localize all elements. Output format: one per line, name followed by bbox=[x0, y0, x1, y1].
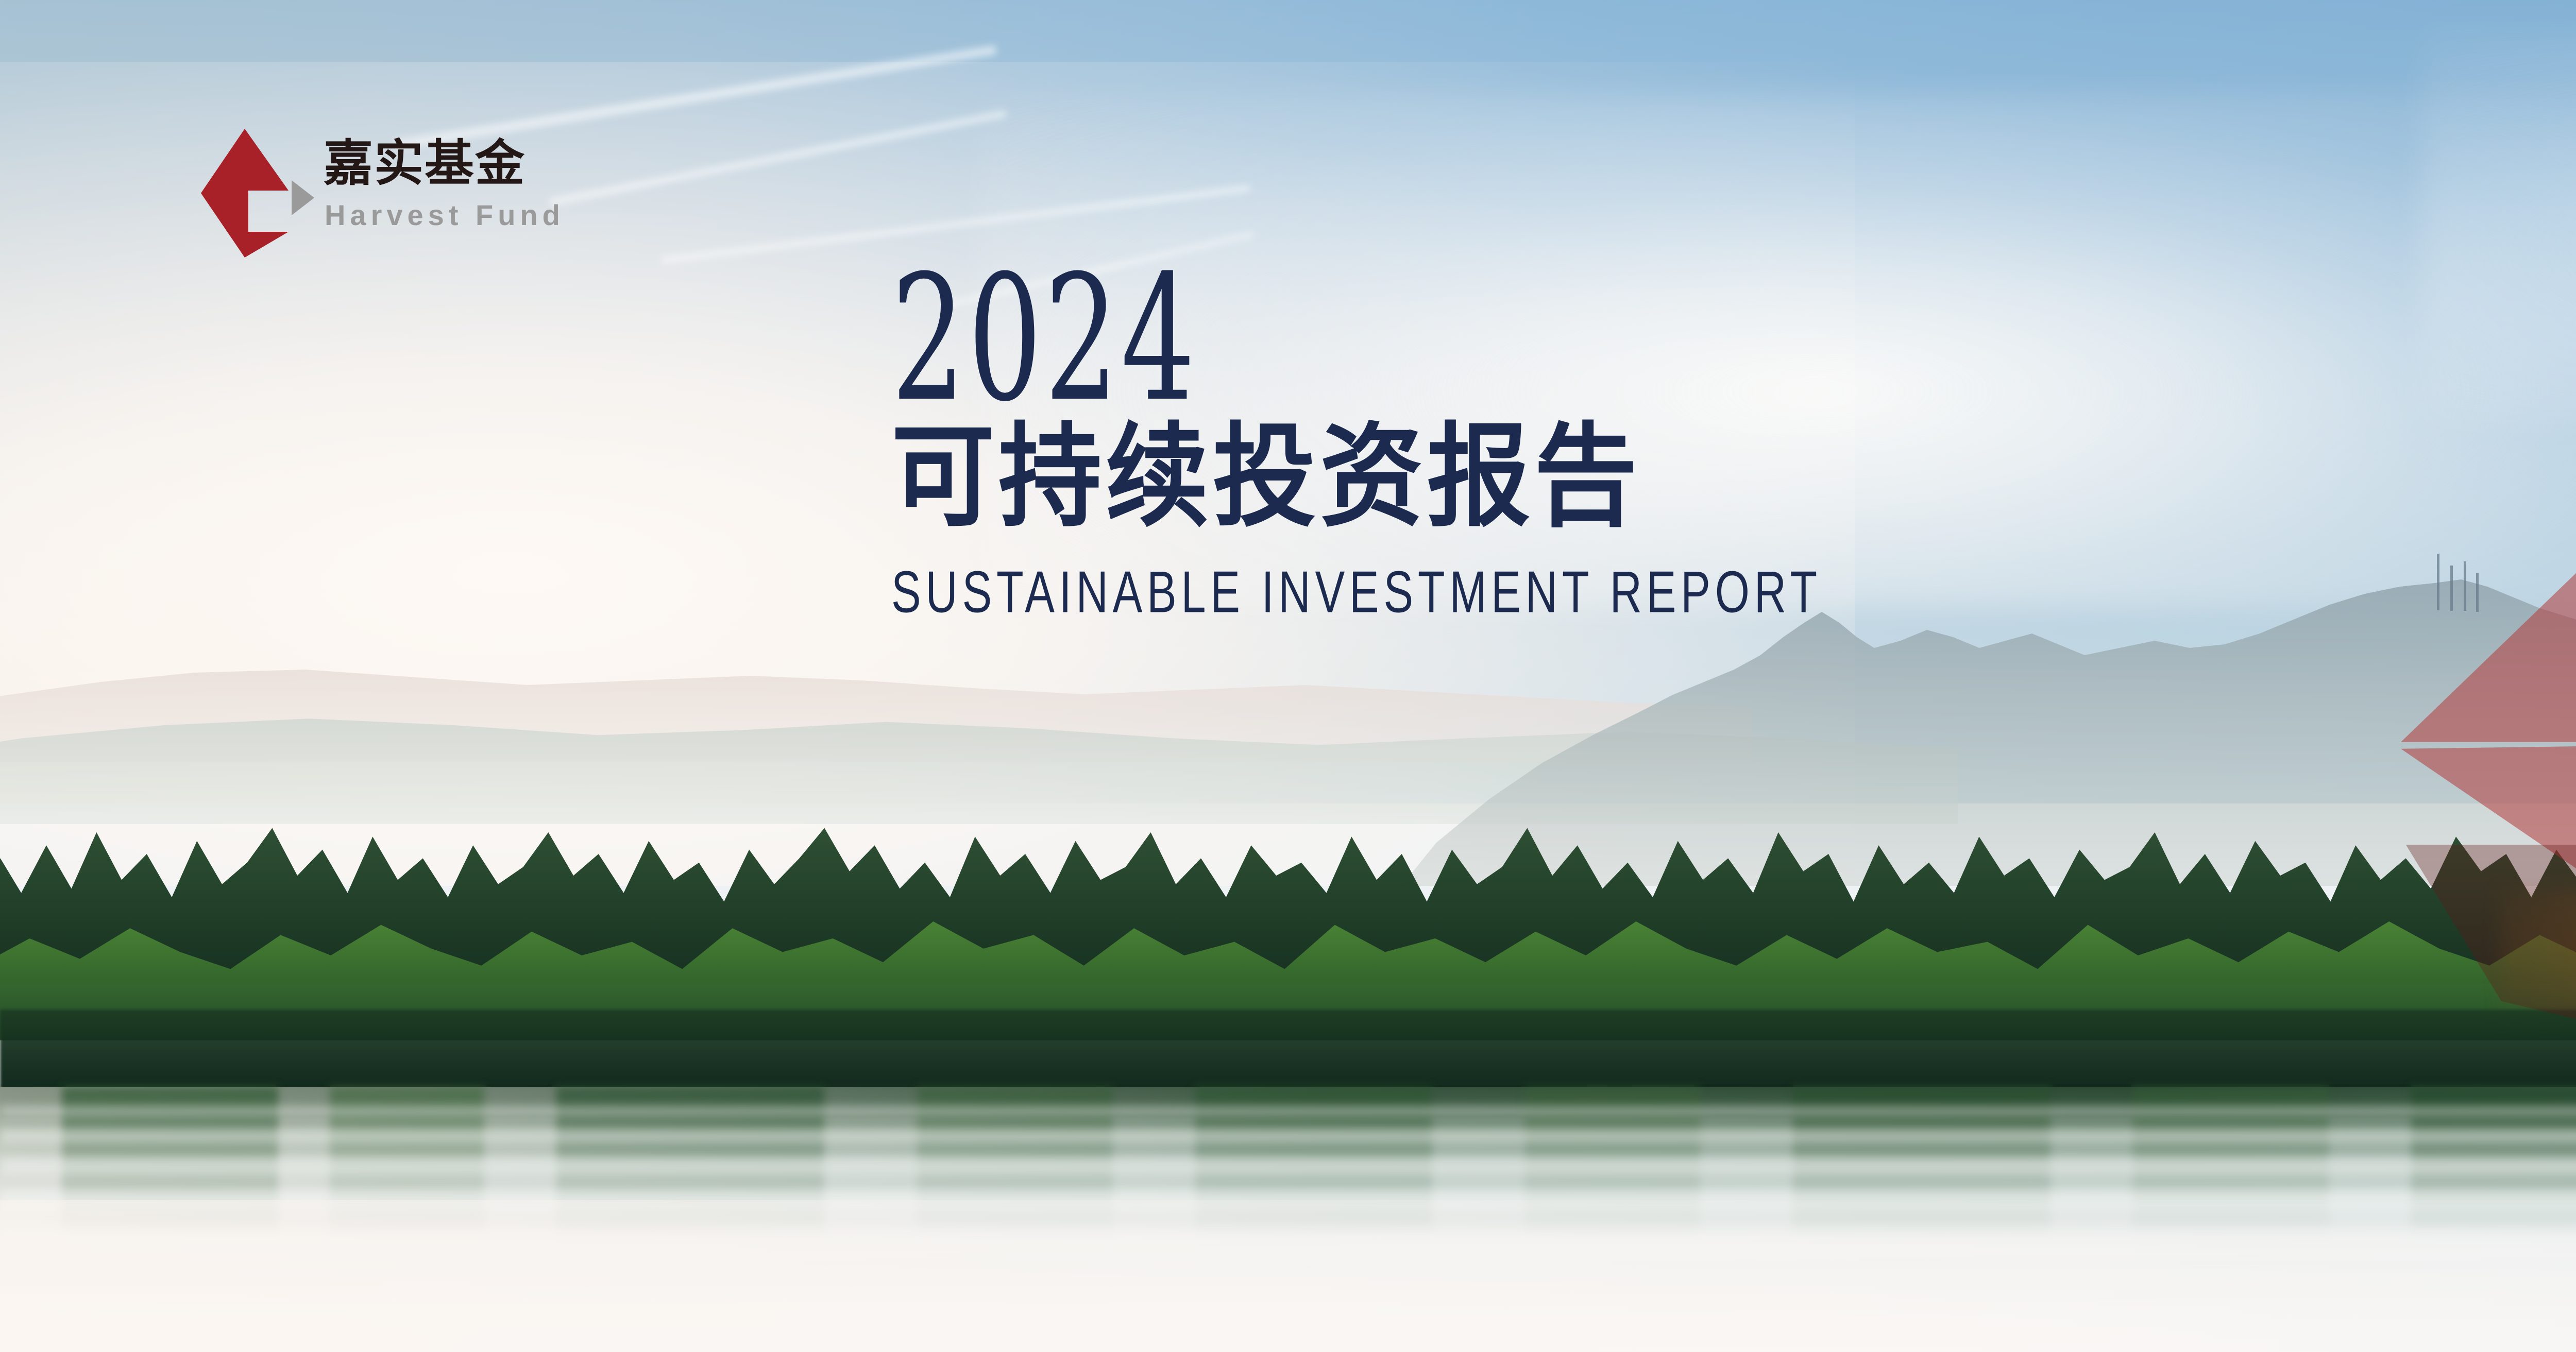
logo-company-name-en: Harvest Fund bbox=[325, 201, 565, 230]
autumn-foliage-patch bbox=[2499, 886, 2576, 1030]
cloud-right bbox=[2421, 31, 2576, 422]
diamond-notch-icon bbox=[201, 129, 289, 258]
report-cover-page: 嘉实基金 Harvest Fund 2024 可持续投资报告 SUSTAINAB… bbox=[0, 0, 2576, 1352]
water-ripple bbox=[0, 1158, 2576, 1175]
report-year: 2024 bbox=[891, 260, 2097, 419]
logo-company-name-cn: 嘉实基金 bbox=[324, 139, 526, 189]
antenna-mast-icon bbox=[2476, 573, 2479, 612]
antenna-mast-icon bbox=[2450, 566, 2453, 611]
antenna-mast-icon bbox=[2437, 554, 2439, 610]
harvest-fund-diamond-mark-icon bbox=[201, 129, 302, 258]
lake-foreground-tint bbox=[0, 1200, 2576, 1352]
report-title-cn: 可持续投资报告 bbox=[891, 420, 2313, 535]
harvest-fund-logo[interactable]: 嘉实基金 Harvest Fund bbox=[201, 129, 654, 263]
water-ripple bbox=[0, 1129, 2576, 1143]
report-title-en: SUSTAINABLE INVESTMENT REPORT bbox=[891, 562, 2128, 621]
play-triangle-icon bbox=[292, 180, 314, 215]
antenna-mast-icon bbox=[2464, 561, 2466, 611]
water-ripple bbox=[0, 1106, 2576, 1117]
cover-title-block: 2024 可持续投资报告 SUSTAINABLE INVESTMENT REPO… bbox=[891, 260, 2437, 618]
